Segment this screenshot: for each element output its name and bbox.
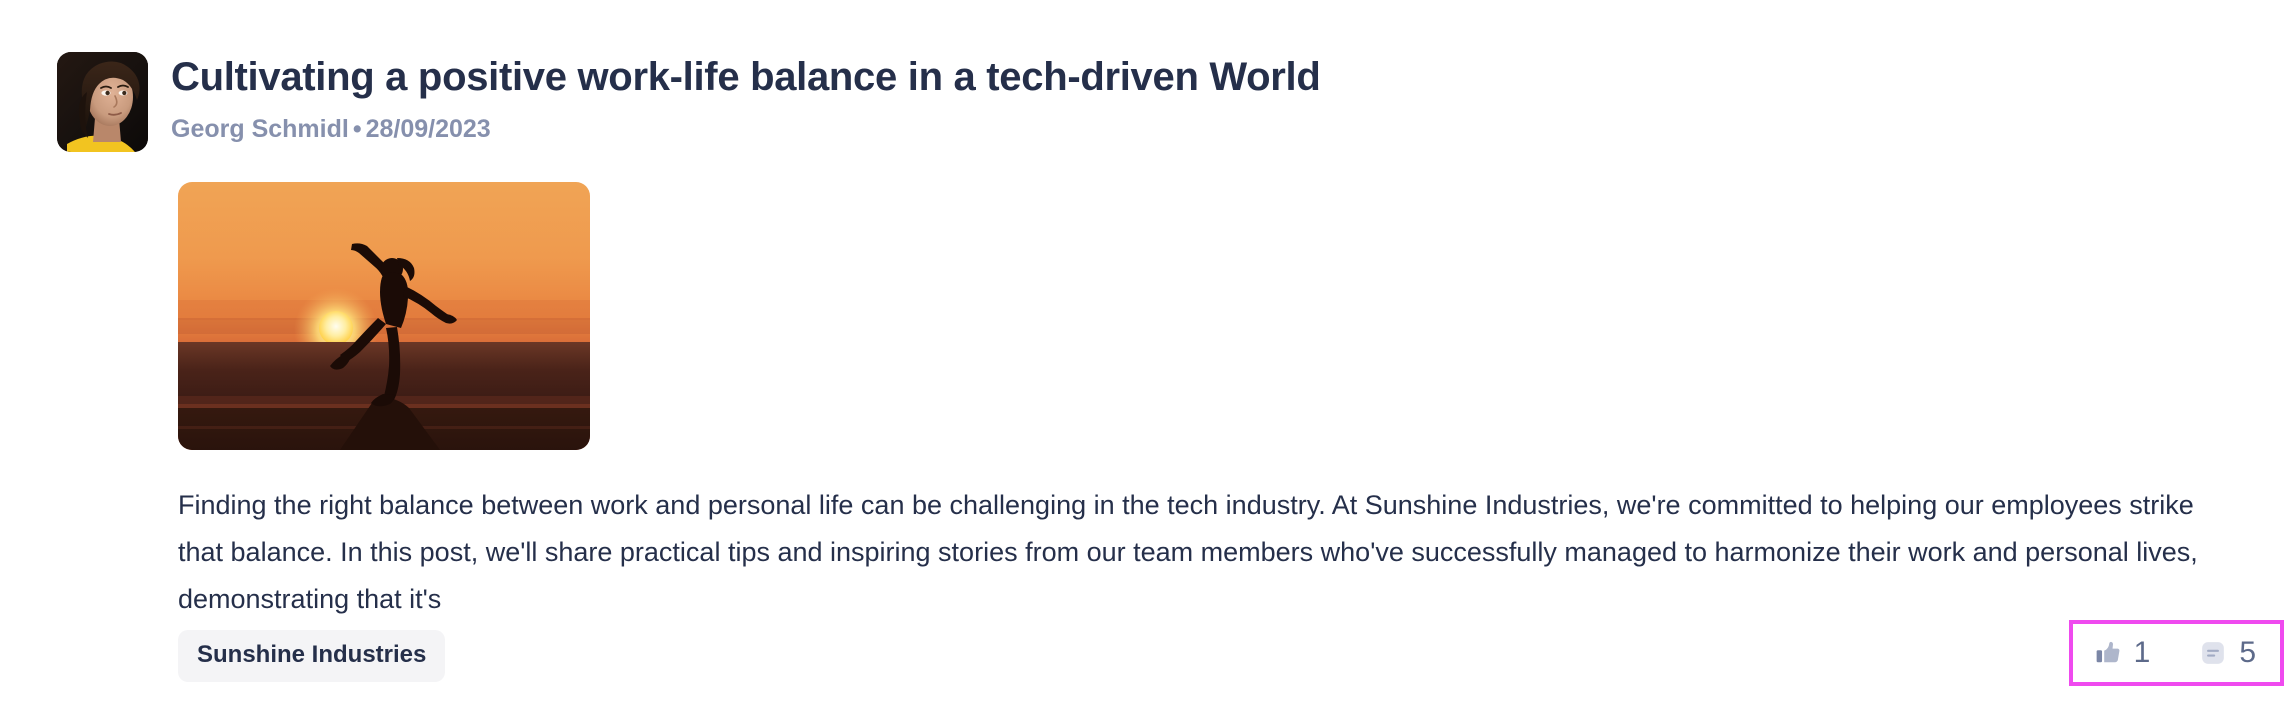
post-title[interactable]: Cultivating a positive work-life balance… [171,54,1320,101]
blog-post-card[interactable]: Cultivating a positive work-life balance… [0,0,2292,718]
comment-count: 5 [2239,638,2256,668]
post-header: Cultivating a positive work-life balance… [0,52,2292,152]
post-author[interactable]: Georg Schmidl [171,115,349,143]
post-stats-highlight: 1 5 [2069,620,2284,686]
byline-separator: • [349,115,366,143]
post-header-text: Cultivating a positive work-life balance… [171,52,1320,144]
post-excerpt: Finding the right balance between work a… [178,482,2212,623]
thumbs-up-icon[interactable] [2095,640,2121,666]
like-stat[interactable]: 1 [2095,638,2151,668]
comment-lines-icon[interactable] [2200,640,2226,666]
post-body: Finding the right balance between work a… [0,182,2292,623]
post-byline: Georg Schmidl•28/09/2023 [171,114,1320,144]
post-tag-sunshine-industries[interactable]: Sunshine Industries [178,630,445,682]
post-date: 28/09/2023 [366,115,491,143]
post-footer: Sunshine Industries 1 5 [178,608,2292,718]
like-count: 1 [2134,638,2151,668]
avatar[interactable] [57,52,148,152]
comment-stat[interactable]: 5 [2200,638,2256,668]
post-hero-image[interactable] [178,182,590,450]
avatar-photo [57,52,148,152]
sunset-silhouette-illustration [178,182,590,450]
